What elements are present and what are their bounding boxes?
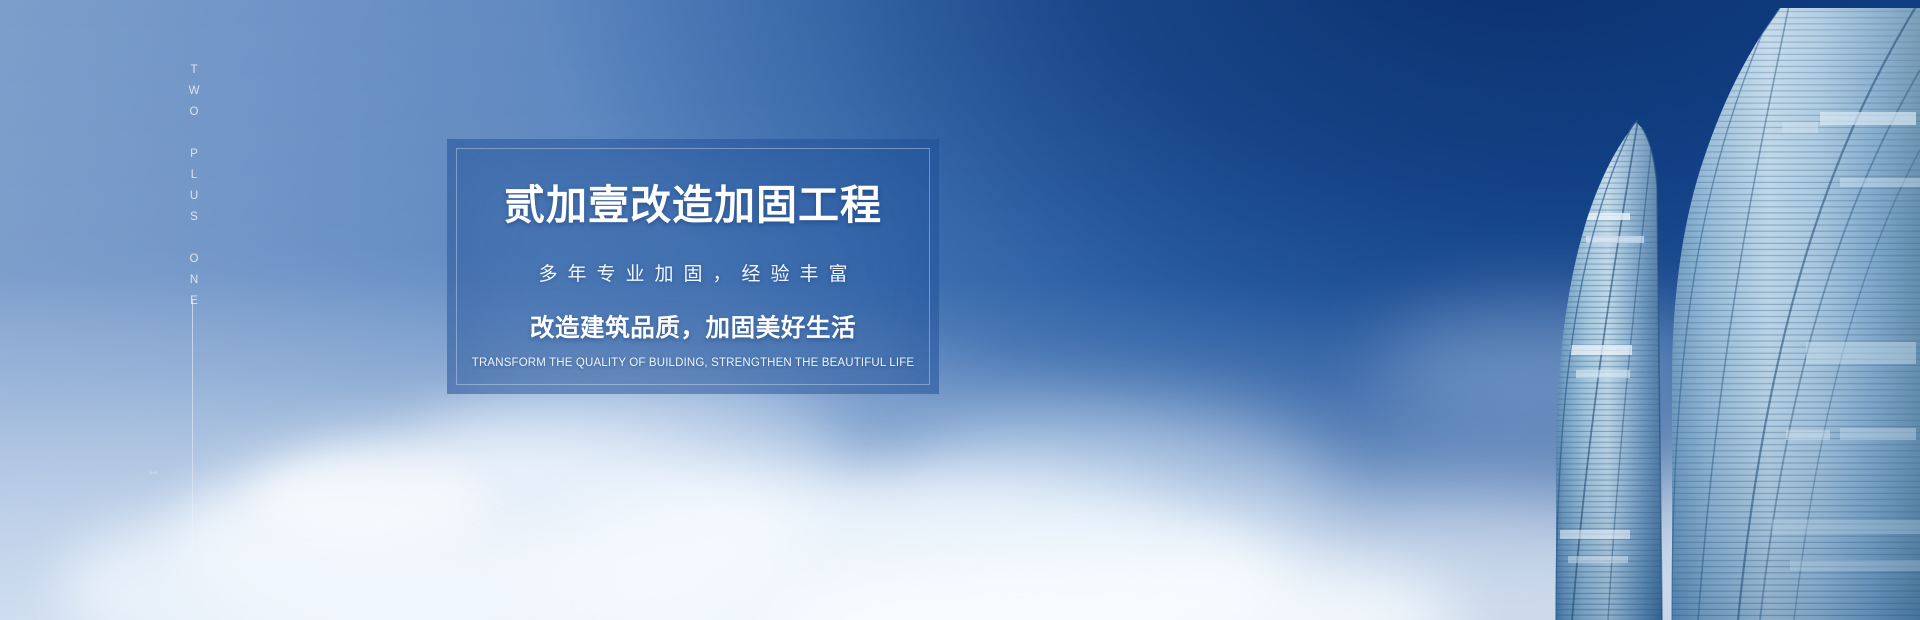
- vertical-brand-mark: 1: [147, 470, 158, 477]
- skyscraper-illustration: [1320, 0, 1920, 620]
- panel-content: 贰加壹改造加固工程 多年专业加固，经验丰富 改造建筑品质，加固美好生活 TRAN…: [447, 139, 939, 394]
- hero-banner: TWO PLUS ONE 1 贰加壹改造加固工程 多年专业加固，经验丰富 改造建…: [0, 0, 1920, 620]
- hero-english-tagline: TRANSFORM THE QUALITY OF BUILDING, STREN…: [472, 357, 914, 369]
- hero-headline: 贰加壹改造加固工程: [504, 185, 882, 226]
- hero-slogan: 改造建筑品质，加固美好生活: [530, 309, 856, 344]
- hero-text-panel: 贰加壹改造加固工程 多年专业加固，经验丰富 改造建筑品质，加固美好生活 TRAN…: [447, 139, 939, 394]
- vertical-divider-line: [192, 300, 193, 570]
- vertical-brand-text: TWO PLUS ONE: [174, 64, 214, 314]
- vertical-brand-label: TWO PLUS ONE: [188, 64, 200, 316]
- hero-subheadline: 多年专业加固，经验丰富: [528, 259, 857, 286]
